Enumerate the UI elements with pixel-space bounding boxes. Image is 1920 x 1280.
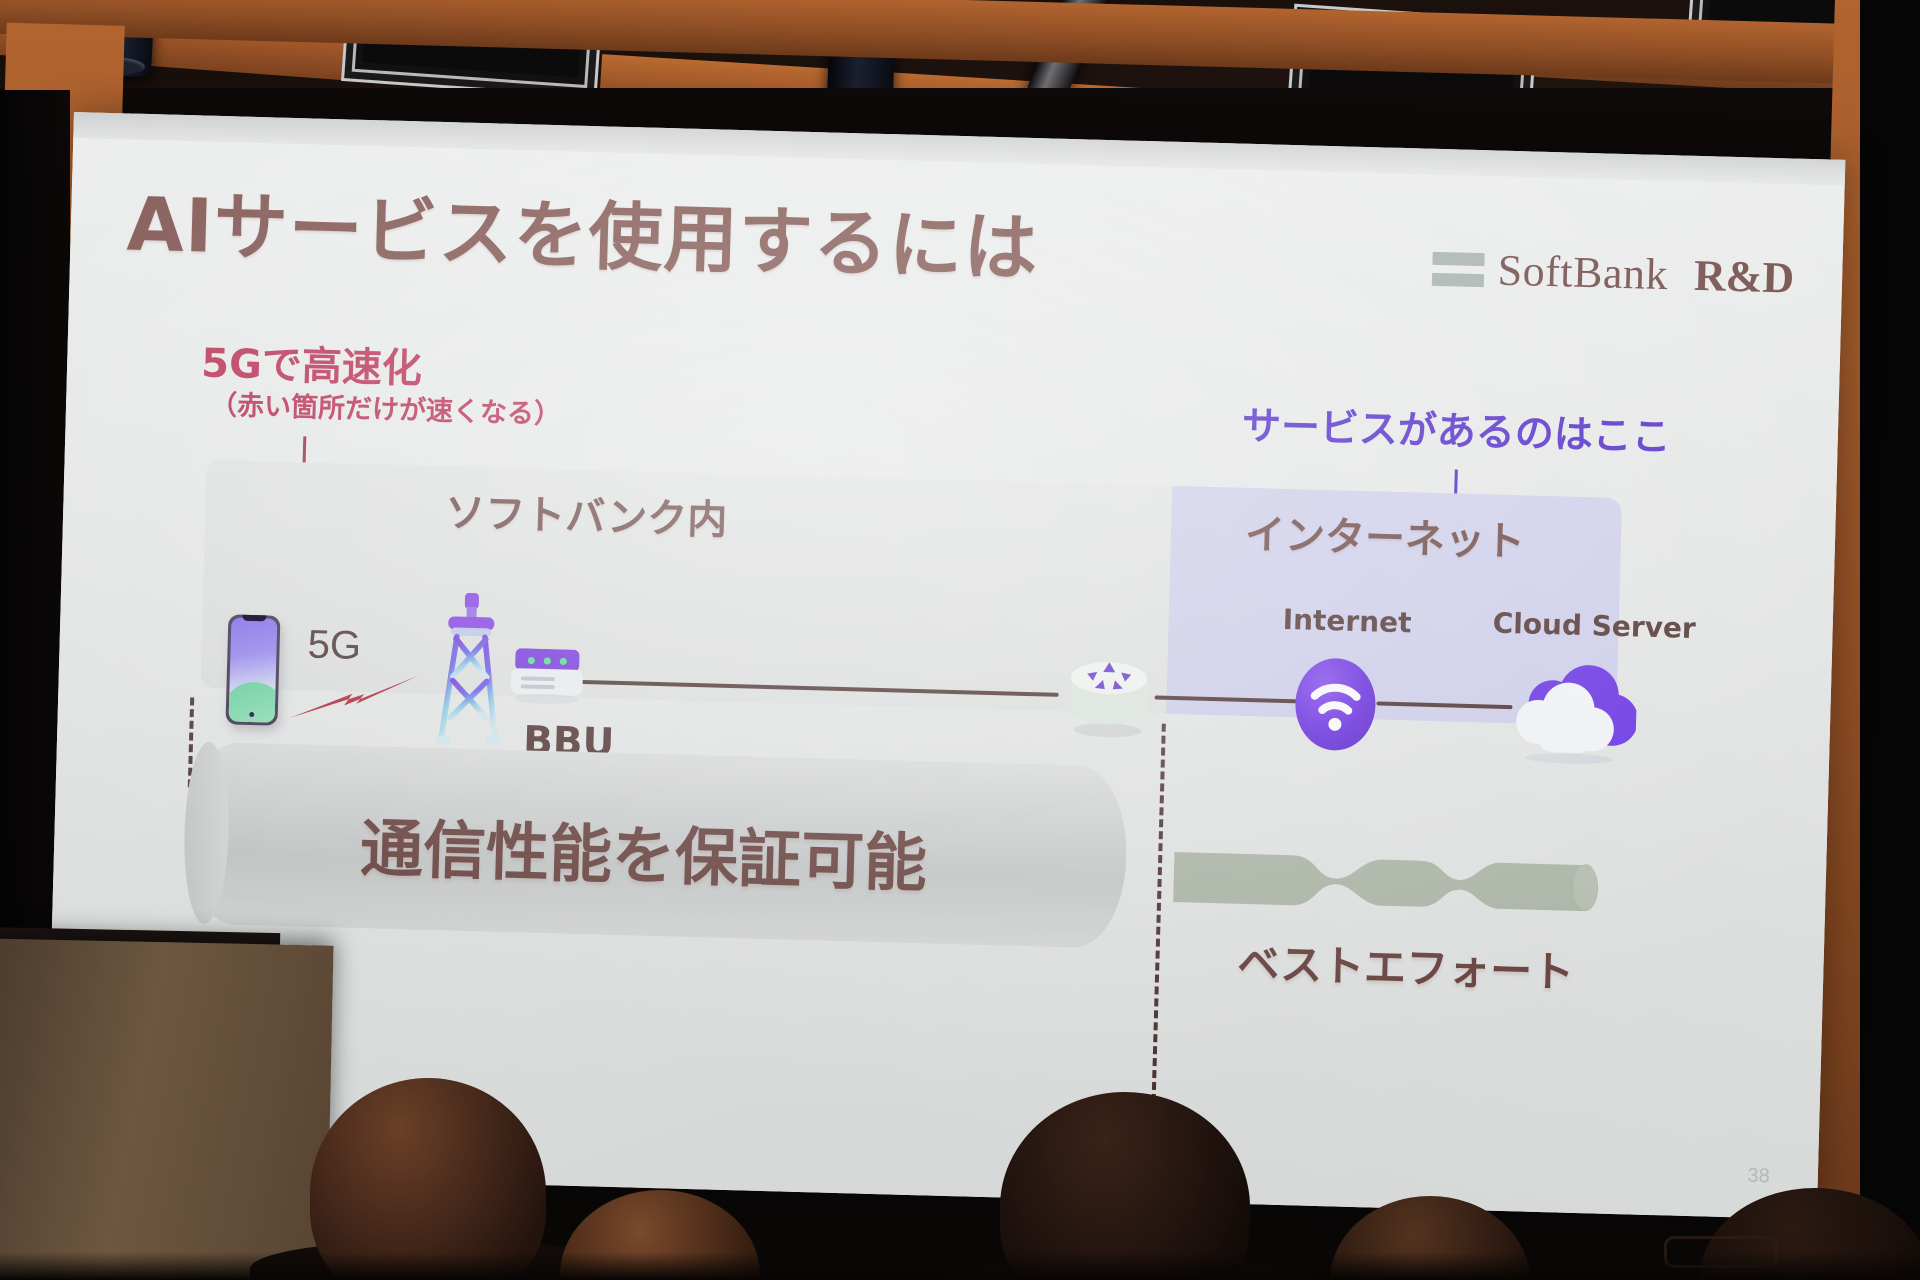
panel-label-internet: インターネット — [1244, 502, 1525, 568]
server-box-icon — [510, 648, 583, 706]
wall-shadow-right — [1860, 0, 1920, 1280]
cell-tower-icon — [429, 592, 511, 746]
panel-label-softbank-internal: ソフトバンク内 — [445, 480, 728, 546]
radio-link-label: 5G — [307, 623, 362, 669]
logo-suffix: R&D — [1693, 254, 1794, 301]
lightning-bolt-icon — [290, 672, 421, 727]
annotation-blue: サービスがあるのはここ — [1241, 406, 1671, 460]
slide-page-number: 38 — [1747, 1165, 1770, 1189]
lectern — [0, 938, 334, 1280]
annotation-red: 5Gで高速化 （赤い箇所だけが速くなる） — [200, 342, 563, 432]
foreground-shadow — [0, 1252, 1920, 1280]
page-title: AIサービスを使用するには — [126, 187, 1039, 286]
best-effort-pipe — [1173, 844, 1605, 922]
router-puck-icon — [1057, 651, 1159, 742]
softbank-equals-mark-icon — [1431, 252, 1484, 287]
softbank-rd-logo: SoftBank R&D — [1431, 247, 1794, 301]
guaranteed-pipe-label: 通信性能を保証可能 — [359, 798, 928, 904]
internet-label: Internet — [1282, 603, 1412, 639]
smartphone-icon — [225, 614, 280, 725]
wifi-circle-icon — [1291, 655, 1380, 753]
annotation-red-line2: （赤い箇所だけが速くなる） — [210, 390, 562, 432]
conference-room-scene: AIサービスを使用するには SoftBank R&D 5Gで高速化 （赤い箇所だ… — [0, 0, 1920, 1280]
best-effort-pipe-label: ベストエフォート — [1237, 930, 1575, 1000]
cloud-icon — [1495, 659, 1638, 767]
annotation-red-line1: 5Gで高速化 — [201, 342, 563, 396]
logo-wordmark: SoftBank — [1497, 249, 1668, 298]
cloud-server-label: Cloud Server — [1492, 607, 1696, 645]
